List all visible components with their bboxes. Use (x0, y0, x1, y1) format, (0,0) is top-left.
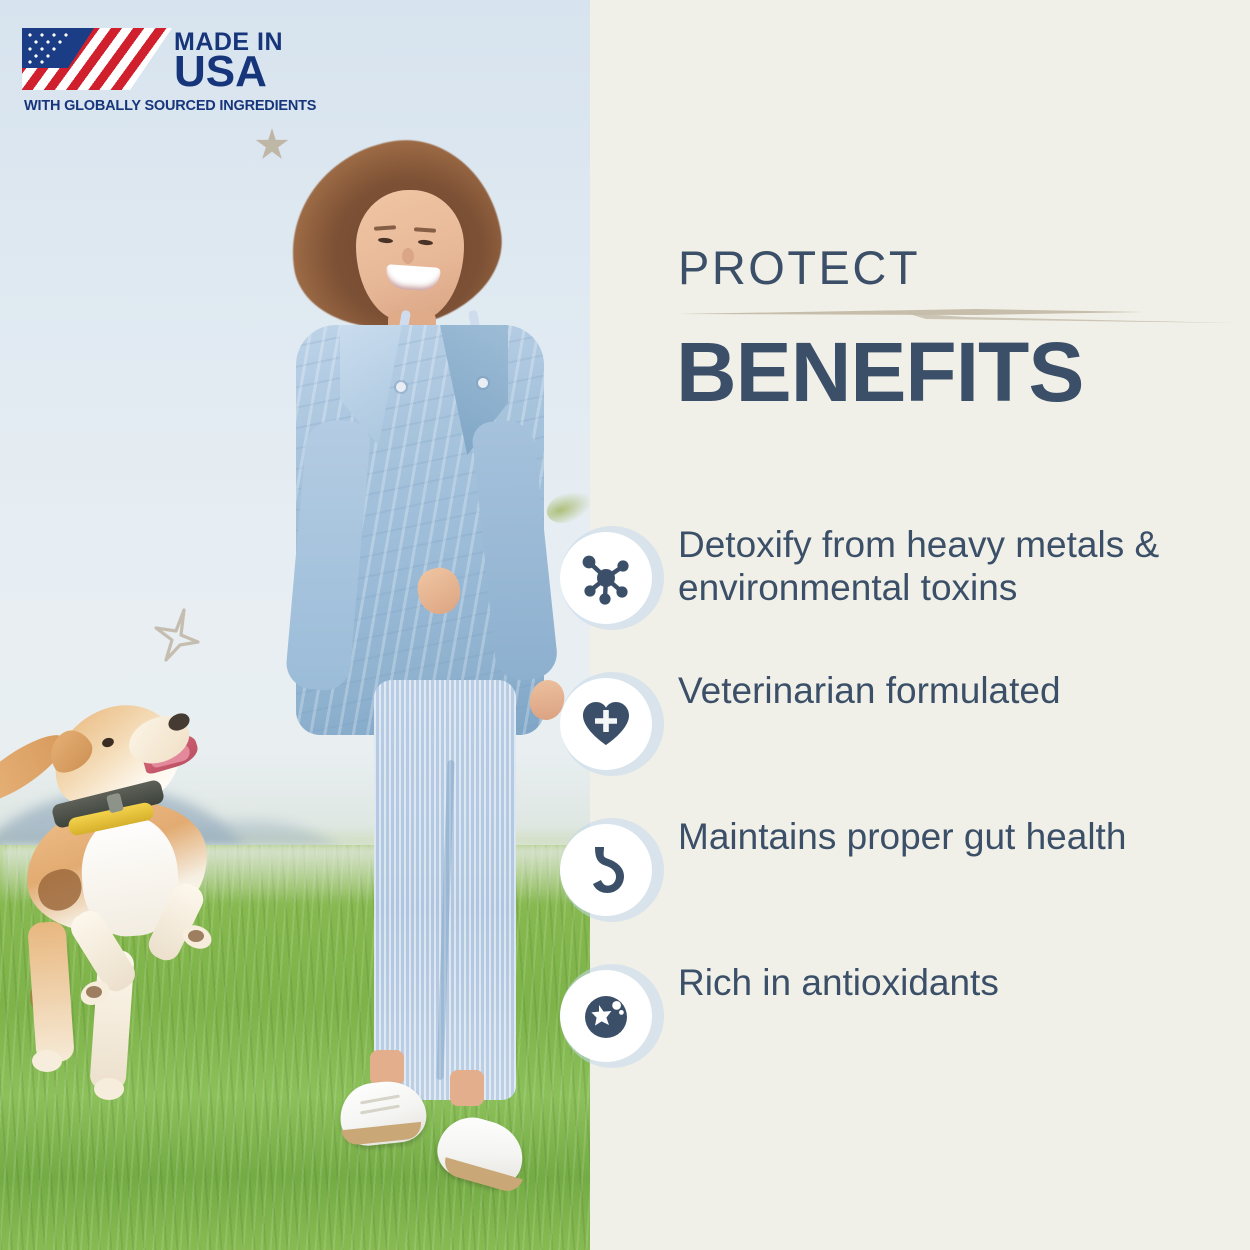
dog-back-leg-left (27, 921, 75, 1063)
nose (402, 248, 414, 264)
benefit-label: Maintains proper gut health (660, 812, 1146, 859)
benefit-icon-wrap (538, 812, 660, 916)
benefit-item: Maintains proper gut health (590, 812, 1250, 930)
badge-subtitle: WITH GLOBALLY SOURCED INGREDIENTS (24, 98, 316, 114)
page-title: BENEFITS (676, 330, 1083, 414)
usa-flag-icon (22, 28, 172, 90)
dog-figure (0, 690, 270, 1120)
section-kicker: PROTECT (678, 240, 920, 295)
benefits-list: Detoxify from heavy metals & environment… (590, 520, 1250, 1104)
star-outline-icon (146, 604, 208, 666)
heart-plus-icon (560, 678, 652, 770)
flag-stars (24, 30, 90, 66)
dog-pad-right (188, 930, 204, 942)
benefit-label: Rich in antioxidants (660, 958, 1116, 1005)
benefit-item: Rich in antioxidants (590, 958, 1250, 1076)
benefit-icon-wrap (538, 958, 660, 1062)
benefit-icon-wrap (538, 666, 660, 770)
benefit-item: Detoxify from heavy metals & environment… (590, 520, 1250, 638)
promo-canvas: MADE IN USA WITH GLOBALLY SOURCED INGRED… (0, 0, 1250, 1250)
overall-button-right (478, 378, 488, 388)
benefit-item: Veterinarian formulated (590, 666, 1250, 784)
dog-paw-back-left (32, 1050, 62, 1072)
benefit-label: Veterinarian formulated (660, 666, 1116, 713)
berry-antioxidant-icon (560, 970, 652, 1062)
stomach-icon (560, 824, 652, 916)
overall-button-left (396, 382, 406, 392)
molecule-toxin-icon (560, 532, 652, 624)
dog-pad-left (86, 986, 102, 998)
dog-paw-back-right (94, 1078, 124, 1100)
badge-usa-text: USA (174, 50, 267, 94)
made-in-usa-badge: MADE IN USA WITH GLOBALLY SOURCED INGRED… (22, 28, 290, 116)
benefit-label: Detoxify from heavy metals & environment… (660, 520, 1241, 610)
lifestyle-photo: MADE IN USA WITH GLOBALLY SOURCED INGRED… (0, 0, 590, 1250)
benefits-panel: PROTECT BENEFITS (590, 0, 1250, 1250)
ankle-right (450, 1070, 484, 1106)
benefit-icon-wrap (538, 520, 660, 624)
